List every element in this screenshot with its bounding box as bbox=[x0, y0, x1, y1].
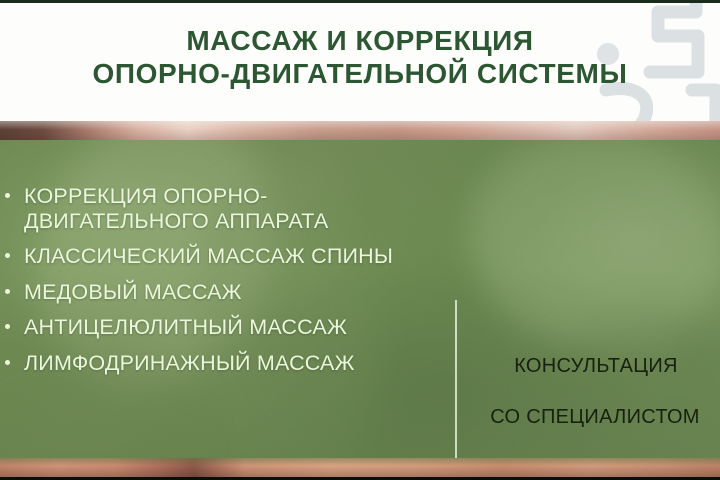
list-item: МЕДОВЫЙ МАССАЖ bbox=[2, 280, 452, 305]
page-title: МАССАЖ И КОРРЕКЦИЯ ОПОРНО-ДВИГАТЕЛЬНОЙ С… bbox=[0, 24, 720, 90]
bottom-photo-strip bbox=[0, 458, 720, 478]
top-border-rule bbox=[0, 0, 720, 3]
services-list: КОРРЕКЦИЯ ОПОРНО-ДВИГАТЕЛЬНОГО АППАРАТА … bbox=[2, 184, 452, 386]
bullet-icon bbox=[5, 360, 10, 365]
bullet-icon bbox=[5, 193, 10, 198]
bottom-photo-strip-shading bbox=[0, 458, 720, 478]
main-green-panel: КОРРЕКЦИЯ ОПОРНО-ДВИГАТЕЛЬНОГО АППАРАТА … bbox=[0, 140, 720, 460]
bullet-icon bbox=[5, 253, 10, 258]
list-item: ЛИМФОДРИНАЖНЫЙ МАССАЖ bbox=[2, 351, 452, 376]
list-item: КОРРЕКЦИЯ ОПОРНО-ДВИГАТЕЛЬНОГО АППАРАТА bbox=[2, 184, 452, 233]
header-band: МАССАЖ И КОРРЕКЦИЯ ОПОРНО-ДВИГАТЕЛЬНОЙ С… bbox=[0, 2, 720, 121]
title-line-1: МАССАЖ И КОРРЕКЦИЯ bbox=[0, 24, 720, 57]
list-item-label: ЛИМФОДРИНАЖНЫЙ МАССАЖ bbox=[24, 351, 355, 375]
list-item: АНТИЦЕЛЮЛИТНЫЙ МАССАЖ bbox=[2, 315, 452, 340]
list-item-label: МЕДОВЫЙ МАССАЖ bbox=[24, 280, 242, 304]
bullet-icon bbox=[5, 289, 10, 294]
offer-block: КОНСУЛЬТАЦИЯ СО СПЕЦИАЛИСТОМ bbox=[470, 355, 720, 429]
offer-line-2: СО СПЕЦИАЛИСТОМ bbox=[468, 406, 720, 429]
promo-poster: МАССАЖ И КОРРЕКЦИЯ ОПОРНО-ДВИГАТЕЛЬНОЙ С… bbox=[0, 0, 720, 480]
list-item: КЛАССИЧЕСКИЙ МАССАЖ СПИНЫ bbox=[2, 244, 452, 269]
list-item-label: АНТИЦЕЛЮЛИТНЫЙ МАССАЖ bbox=[24, 315, 347, 339]
bullet-icon bbox=[5, 324, 10, 329]
offer-line-1: КОНСУЛЬТАЦИЯ bbox=[470, 355, 720, 378]
title-line-2: ОПОРНО-ДВИГАТЕЛЬНОЙ СИСТЕМЫ bbox=[0, 57, 720, 90]
list-item-label: КОРРЕКЦИЯ ОПОРНО-ДВИГАТЕЛЬНОГО АППАРАТА bbox=[24, 184, 328, 233]
list-item-label: КЛАССИЧЕСКИЙ МАССАЖ СПИНЫ bbox=[24, 244, 393, 268]
vertical-divider bbox=[455, 300, 457, 460]
